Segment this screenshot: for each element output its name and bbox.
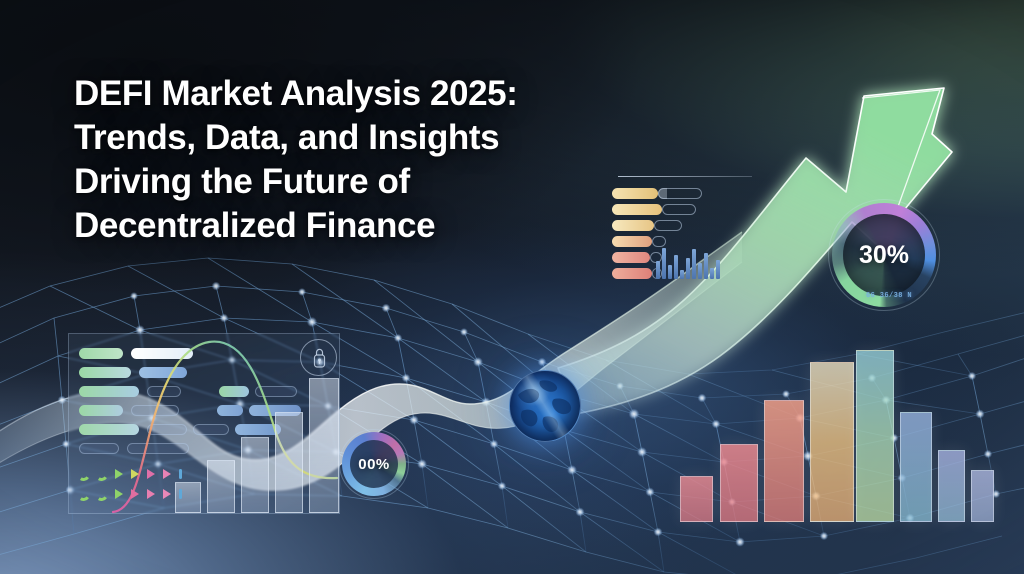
lock-icon: [301, 340, 338, 377]
mini-bar: [704, 253, 708, 279]
metric-bar: [612, 220, 654, 231]
mini-bar: [656, 261, 660, 279]
page-title: DEFI Market Analysis 2025: Trends, Data,…: [74, 72, 634, 248]
globe-highlight: [510, 371, 580, 441]
play-triangle-icon: [131, 469, 139, 479]
tick-icon: [179, 469, 182, 479]
mini-bar: [668, 265, 672, 279]
progress-gauge-right: 30% 66 36/38 N: [832, 203, 936, 307]
mini-bar-chart: [656, 236, 722, 279]
lock-badge: [300, 339, 337, 376]
chart-bar: [900, 412, 932, 522]
metric-track-fill: [658, 188, 667, 199]
metric-bar: [612, 268, 652, 279]
globe-icon: [509, 370, 581, 442]
panel-divider: [618, 176, 752, 177]
crescent-icon: [94, 487, 109, 502]
metrics-panel: [608, 176, 756, 278]
mini-bar: [686, 258, 690, 279]
chart-bar: [720, 444, 758, 522]
main-bar-chart: [672, 330, 972, 522]
chart-bar: [938, 450, 965, 522]
gauge-value: 00%: [342, 432, 406, 496]
metric-track: [654, 220, 682, 231]
gauge-micro-label: 66 36/38 N: [866, 292, 912, 300]
chart-bar: [971, 470, 994, 522]
play-triangle-icon: [163, 469, 171, 479]
play-triangle-icon: [131, 489, 139, 499]
metric-track: [662, 204, 696, 215]
chart-bar: [680, 476, 713, 522]
panel-bar: [207, 460, 235, 513]
play-triangle-icon: [115, 489, 123, 499]
crescent-icon: [76, 467, 91, 482]
play-triangle-icon: [147, 489, 155, 499]
panel-bar: [275, 412, 303, 513]
mini-bar: [662, 248, 666, 279]
play-triangle-icon: [147, 469, 155, 479]
hero-banner: DEFI Market Analysis 2025: Trends, Data,…: [0, 0, 1024, 574]
chart-bar: [764, 400, 804, 522]
mini-bar: [674, 255, 678, 279]
metric-bar: [612, 236, 652, 247]
play-triangle-icon: [115, 469, 123, 479]
crescent-icon: [76, 487, 91, 502]
mini-bar: [692, 249, 696, 279]
metric-bar: [612, 188, 658, 199]
icon-row: [77, 467, 197, 484]
tick-icon: [179, 489, 182, 499]
mini-bar: [680, 270, 684, 279]
chart-bar: [810, 362, 854, 522]
mini-bar: [716, 260, 720, 279]
icon-row: [77, 487, 197, 504]
metric-bar: [612, 204, 662, 215]
mini-bar: [710, 268, 714, 279]
analytics-panel: [68, 333, 340, 514]
crescent-icon: [94, 467, 109, 482]
play-triangle-icon: [163, 489, 171, 499]
panel-bar: [241, 437, 269, 513]
chart-bar: [856, 350, 894, 522]
metric-bar: [612, 252, 650, 263]
mini-bar: [698, 263, 702, 279]
progress-gauge-left: 00%: [342, 432, 406, 496]
panel-bar: [309, 378, 339, 513]
